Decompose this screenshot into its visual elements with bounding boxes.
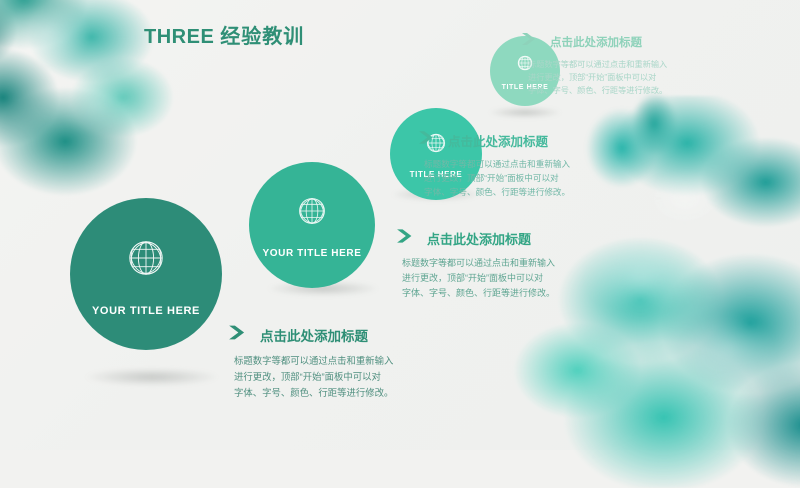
bubble-caption-2: YOUR TITLE HERE bbox=[262, 248, 361, 259]
bubble-node-1[interactable]: YOUR TITLE HERE bbox=[70, 198, 222, 350]
text-line: 字体、字号、颜色、行距等进行修改。 bbox=[528, 84, 667, 97]
bubble-node-2[interactable]: YOUR TITLE HERE bbox=[249, 162, 375, 288]
bubble-shadow-1 bbox=[86, 368, 218, 386]
globe-wireframe-icon bbox=[292, 191, 332, 236]
chevron-right-icon bbox=[396, 228, 418, 249]
text-block-2-heading: 点击此处添加标题 bbox=[427, 229, 531, 248]
page-title: THREE经验教训 bbox=[144, 20, 304, 49]
text-block-2: 点击此处添加标题 标题数字等都可以通过点击和重新输入 进行更改，顶部“开始”面板… bbox=[396, 228, 555, 301]
bubble-caption-1: YOUR TITLE HERE bbox=[92, 305, 200, 317]
text-block-3: 点击此处添加标题 标题数字等都可以通过点击和重新输入 进行更改，顶部“开始”面板… bbox=[418, 130, 570, 199]
text-block-3-heading-row: 点击此处添加标题 bbox=[418, 130, 570, 150]
page-title-en: THREE bbox=[144, 26, 214, 48]
slide-canvas: THREE经验教训 TITLE HERE bbox=[0, 0, 800, 450]
text-block-4-heading: 点击此处添加标题 bbox=[550, 34, 642, 50]
text-line: 标题数字等都可以通过点击和重新输入 bbox=[234, 353, 393, 369]
text-line: 字体、字号、颜色、行距等进行修改。 bbox=[402, 286, 555, 301]
text-block-1-heading-row: 点击此处添加标题 bbox=[228, 324, 393, 346]
text-block-4-body: 标题数字等都可以通过点击和重新输入 进行更改，顶部“开始”面板中可以对 字体、字… bbox=[528, 58, 667, 97]
chevron-right-icon bbox=[521, 32, 541, 51]
text-block-3-body: 标题数字等都可以通过点击和重新输入 进行更改，顶部“开始”面板中可以对 字体、字… bbox=[424, 157, 570, 199]
text-line: 标题数字等都可以通过点击和重新输入 bbox=[424, 157, 570, 171]
globe-wireframe-icon bbox=[120, 232, 172, 289]
text-line: 进行更改，顶部“开始”面板中可以对 bbox=[424, 171, 570, 185]
bubble-shadow-4 bbox=[489, 107, 561, 118]
text-line: 标题数字等都可以通过点击和重新输入 bbox=[528, 58, 667, 71]
text-block-2-body: 标题数字等都可以通过点击和重新输入 进行更改，顶部“开始”面板中可以对 字体、字… bbox=[402, 256, 555, 301]
text-line: 标题数字等都可以通过点击和重新输入 bbox=[402, 256, 555, 271]
text-block-1-heading: 点击此处添加标题 bbox=[260, 325, 368, 345]
chevron-right-icon bbox=[418, 130, 439, 150]
text-block-4: 点击此处添加标题 标题数字等都可以通过点击和重新输入 进行更改，顶部“开始”面板… bbox=[521, 32, 667, 97]
text-line: 进行更改，顶部“开始”面板中可以对 bbox=[402, 271, 555, 286]
text-line: 字体、字号、颜色、行距等进行修改。 bbox=[424, 185, 570, 199]
text-block-4-heading-row: 点击此处添加标题 bbox=[521, 32, 667, 51]
text-block-3-heading: 点击此处添加标题 bbox=[448, 131, 548, 150]
text-line: 进行更改，顶部“开始”面板中可以对 bbox=[528, 71, 667, 84]
text-block-2-heading-row: 点击此处添加标题 bbox=[396, 228, 555, 249]
text-block-1-body: 标题数字等都可以通过点击和重新输入 进行更改，顶部“开始”面板中可以对 字体、字… bbox=[234, 353, 393, 401]
page-title-cn: 经验教训 bbox=[220, 26, 304, 48]
text-line: 字体、字号、颜色、行距等进行修改。 bbox=[234, 385, 393, 401]
chevron-right-icon bbox=[228, 324, 251, 346]
text-block-1: 点击此处添加标题 标题数字等都可以通过点击和重新输入 进行更改，顶部“开始”面板… bbox=[228, 324, 393, 401]
text-line: 进行更改，顶部“开始”面板中可以对 bbox=[234, 369, 393, 385]
